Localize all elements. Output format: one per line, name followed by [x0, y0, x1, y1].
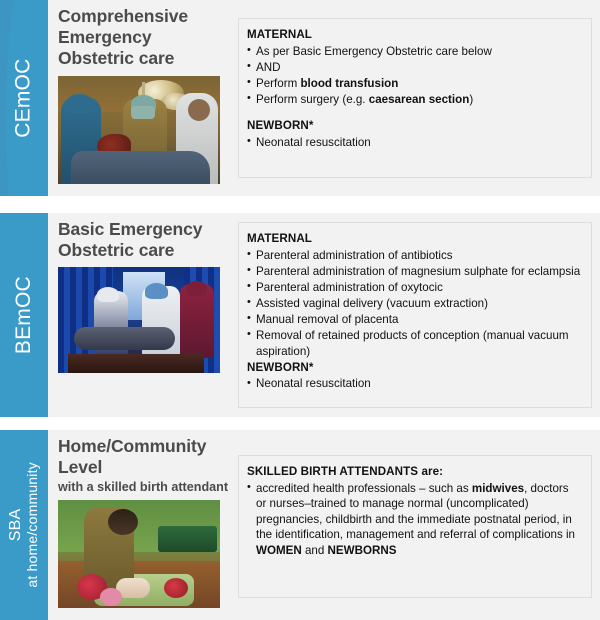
bullet-text: As per Basic Emergency Obstetric care be… — [256, 45, 492, 58]
emphasis-text: midwives — [472, 482, 524, 495]
bullet-item: Manual removal of placenta — [247, 312, 581, 328]
cemoc-textbox: MATERNALAs per Basic Emergency Obstetric… — [238, 18, 592, 178]
bullet-item: Assisted vaginal delivery (vacuum extrac… — [247, 296, 581, 312]
tab-bemoc[interactable]: BEmOC — [0, 213, 48, 417]
bullet-text: Parenteral administration of magnesium s… — [256, 265, 580, 278]
emphasis-text: WOMEN — [256, 544, 302, 557]
bullet-item: Removal of retained products of concepti… — [247, 328, 581, 359]
bullet-item: Parenteral administration of oxytocic — [247, 280, 581, 296]
group-title: MATERNAL — [247, 27, 581, 43]
tab-cemoc[interactable]: CEmOC — [0, 0, 48, 196]
bullet-text: and — [302, 544, 328, 557]
bemoc-textbox: MATERNALParenteral administration of ant… — [238, 222, 592, 408]
bullet-item: accredited health professionals – such a… — [247, 481, 581, 559]
tab-sba[interactable]: SBA at home/community — [0, 430, 48, 620]
bullet-item: Parenteral administration of antibiotics — [247, 248, 581, 264]
tab-sba-label-line2: at home/community — [25, 462, 40, 588]
bullet-text: Assisted vaginal delivery (vacuum extrac… — [256, 297, 488, 310]
bullet-list: Parenteral administration of antibiotics… — [247, 248, 581, 360]
bullet-item: Parenteral administration of magnesium s… — [247, 264, 581, 280]
tab-sba-label-line1: SBA — [8, 462, 25, 588]
emphasis-text: caesarean section — [369, 93, 470, 106]
photo-home-birth-midwife-newborn — [58, 500, 220, 608]
bullet-list: Neonatal resuscitation — [247, 135, 581, 151]
tab-cemoc-label: CEmOC — [13, 58, 35, 137]
group-title: SKILLED BIRTH ATTENDANTS are: — [247, 464, 581, 480]
group-title: NEWBORN* — [247, 118, 581, 134]
bullet-text: Manual removal of placenta — [256, 313, 398, 326]
bullet-item: Perform blood transfusion — [247, 76, 581, 92]
bullet-item: Perform surgery (e.g. caesarean section) — [247, 92, 581, 108]
panel-cemoc: CEmOC Comprehensive Emergency Obstetric … — [0, 0, 600, 196]
bullet-text: ) — [469, 93, 473, 106]
sba-left-column: Home/Community Level with a skilled birt… — [48, 430, 230, 620]
bullet-item: As per Basic Emergency Obstetric care be… — [247, 44, 581, 60]
group-title: NEWBORN* — [247, 360, 581, 376]
sba-textbox-wrap: SKILLED BIRTH ATTENDANTS are:accredited … — [230, 430, 600, 620]
bullet-item: Neonatal resuscitation — [247, 135, 581, 151]
bullet-list: Neonatal resuscitation — [247, 376, 581, 392]
bemoc-left-column: Basic Emergency Obstetric care — [48, 213, 230, 417]
cemoc-left-column: Comprehensive Emergency Obstetric care — [48, 0, 230, 196]
emphasis-text: NEWBORNS — [328, 544, 397, 557]
obstetric-care-levels-infographic: CEmOC Comprehensive Emergency Obstetric … — [0, 0, 600, 620]
bullet-text: Neonatal resuscitation — [256, 377, 371, 390]
bemoc-heading: Basic Emergency Obstetric care — [58, 219, 230, 261]
group-title: MATERNAL — [247, 231, 581, 247]
photo-operating-theatre-caesarean — [58, 76, 220, 184]
bullet-text: Parenteral administration of antibiotics — [256, 249, 453, 262]
cemoc-textbox-wrap: MATERNALAs per Basic Emergency Obstetric… — [230, 0, 600, 196]
bullet-text: Perform — [256, 77, 300, 90]
bemoc-textbox-wrap: MATERNALParenteral administration of ant… — [230, 213, 600, 417]
panel-sba: SBA at home/community Home/Community Lev… — [0, 430, 600, 620]
bullet-text: Removal of retained products of concepti… — [256, 329, 569, 358]
bullet-text: Neonatal resuscitation — [256, 136, 371, 149]
bullet-text: AND — [256, 61, 280, 74]
sba-subheading: with a skilled birth attendant — [58, 480, 230, 495]
bullet-list: accredited health professionals – such a… — [247, 481, 581, 559]
cemoc-heading: Comprehensive Emergency Obstetric care — [58, 6, 230, 70]
bullet-item: AND — [247, 60, 581, 76]
photo-delivery-room-blue-curtains — [58, 267, 220, 373]
bullet-text: Parenteral administration of oxytocic — [256, 281, 443, 294]
bullet-text: Perform surgery (e.g. — [256, 93, 369, 106]
panel-bemoc: BEmOC Basic Emergency Obstetric care MAT… — [0, 213, 600, 417]
emphasis-text: blood transfusion — [300, 77, 398, 90]
sba-textbox: SKILLED BIRTH ATTENDANTS are:accredited … — [238, 455, 592, 598]
bullet-item: Neonatal resuscitation — [247, 376, 581, 392]
bullet-list: As per Basic Emergency Obstetric care be… — [247, 44, 581, 108]
tab-bemoc-label: BEmOC — [13, 276, 35, 354]
sba-heading: Home/Community Level — [58, 436, 230, 478]
bullet-text: accredited health professionals – such a… — [256, 482, 472, 495]
tab-sba-label: SBA at home/community — [8, 462, 40, 588]
